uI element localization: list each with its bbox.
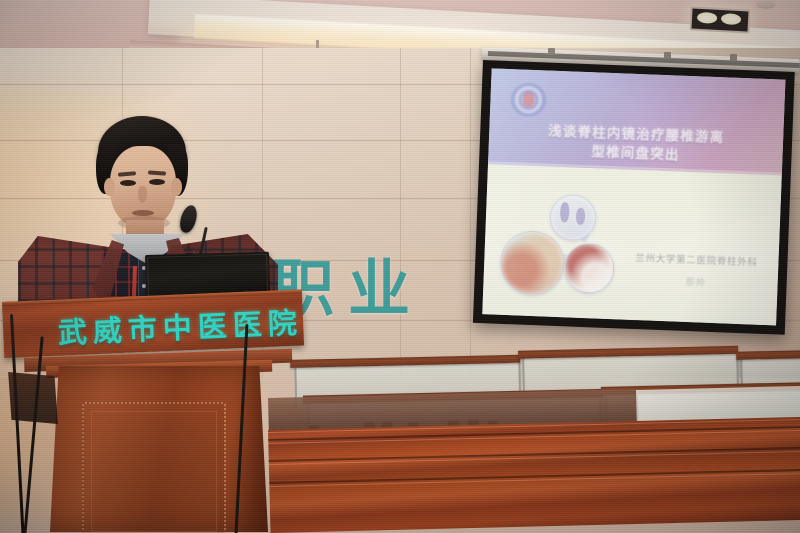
presentation-photo-scene: 威职业 浅谈脊柱内镜治疗腰椎游离 型椎间盘突出 <box>0 0 800 533</box>
presenter-eye-left <box>120 180 136 186</box>
molecule-bubble-specimen <box>563 242 615 294</box>
molecule-graphic-icon <box>495 192 621 307</box>
presenter-eye-right <box>149 179 165 185</box>
podium: 武威市中医医院 <box>2 296 302 533</box>
front-bench <box>268 417 800 533</box>
screen-frame: 浅谈脊柱内镜治疗腰椎游离 型椎间盘突出 兰州大学第二医院脊柱外科 那帅 <box>473 60 795 335</box>
podium-decorative-panel <box>82 402 226 533</box>
downlight-icon <box>689 6 750 33</box>
slide-surface: 浅谈脊柱内镜治疗腰椎游离 型椎间盘突出 兰州大学第二医院脊柱外科 那帅 <box>482 68 785 325</box>
desk-top <box>736 350 800 360</box>
smoke-detector-icon <box>756 0 776 9</box>
projection-screen: 浅谈脊柱内镜治疗腰椎游离 型椎间盘突出 兰州大学第二医院脊柱外科 那帅 <box>482 47 800 325</box>
molecule-bubble-xray <box>549 194 597 242</box>
molecule-bubble-photo <box>499 230 565 296</box>
